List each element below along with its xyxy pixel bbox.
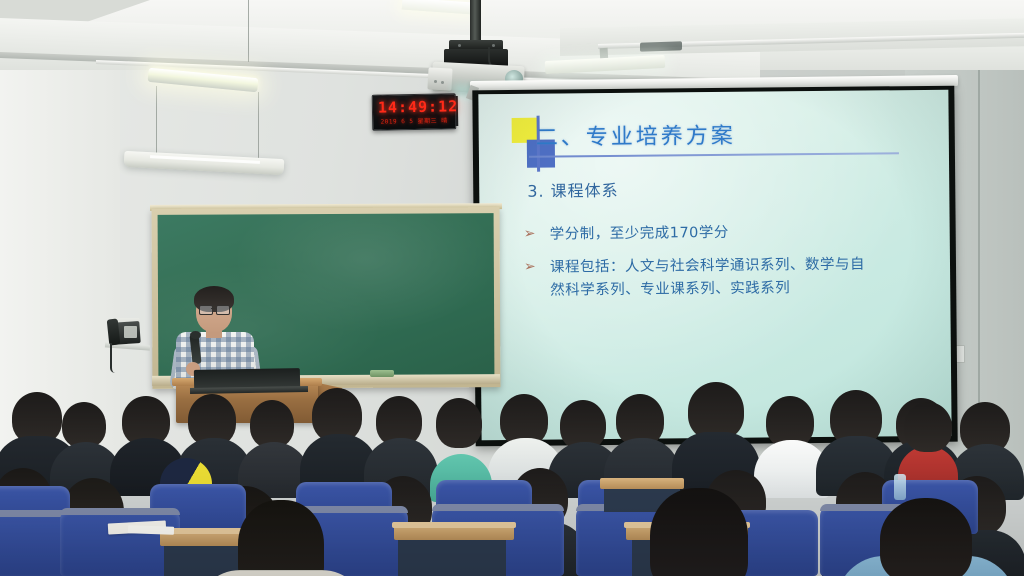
paper-sheet[interactable] [128,525,174,535]
desk-front-edge [392,522,516,528]
student-head [880,498,972,576]
chair-top-edge [60,508,180,515]
student-head [650,488,748,576]
student-head [250,400,294,448]
phone-keypad[interactable] [124,326,137,338]
lecture-hall-photo: 14:49:12 2019 6 5 星期三 晴 二、专业培养方案 3. 课程体系… [0,0,1024,576]
glasses-right-lens [216,305,230,315]
clock-time-display: 14:49:12 [378,97,450,116]
water-bottle[interactable] [894,474,906,500]
projector-indicator-led [441,81,444,84]
clock-date-display: 2019 6 5 星期三 晴 [376,115,452,125]
phone-cord [110,343,115,373]
projector-side-panel [427,67,452,90]
lecturer-glasses-icon [199,305,229,313]
light-suspension-wire [258,92,259,160]
writing-desk[interactable] [600,478,684,489]
light-suspension-wire [156,86,157,158]
student-head [904,402,952,452]
glasses-bridge [211,308,216,309]
projector-mount-pole [470,0,481,44]
microphone-head [190,331,201,339]
light-suspension-wire [248,0,249,62]
glasses-left-lens [199,305,213,315]
chair-top-edge [432,504,564,511]
audience-area [0,380,1024,576]
student-head [238,500,324,576]
desk-underside [398,538,506,576]
projector-indicator-led [434,80,437,83]
ceiling-vent-icon [640,41,682,51]
chalkboard-eraser[interactable] [370,370,394,377]
led-wall-clock: 14:49:12 2019 6 5 星期三 晴 [372,93,457,130]
projector-mount-bolt [458,44,461,47]
